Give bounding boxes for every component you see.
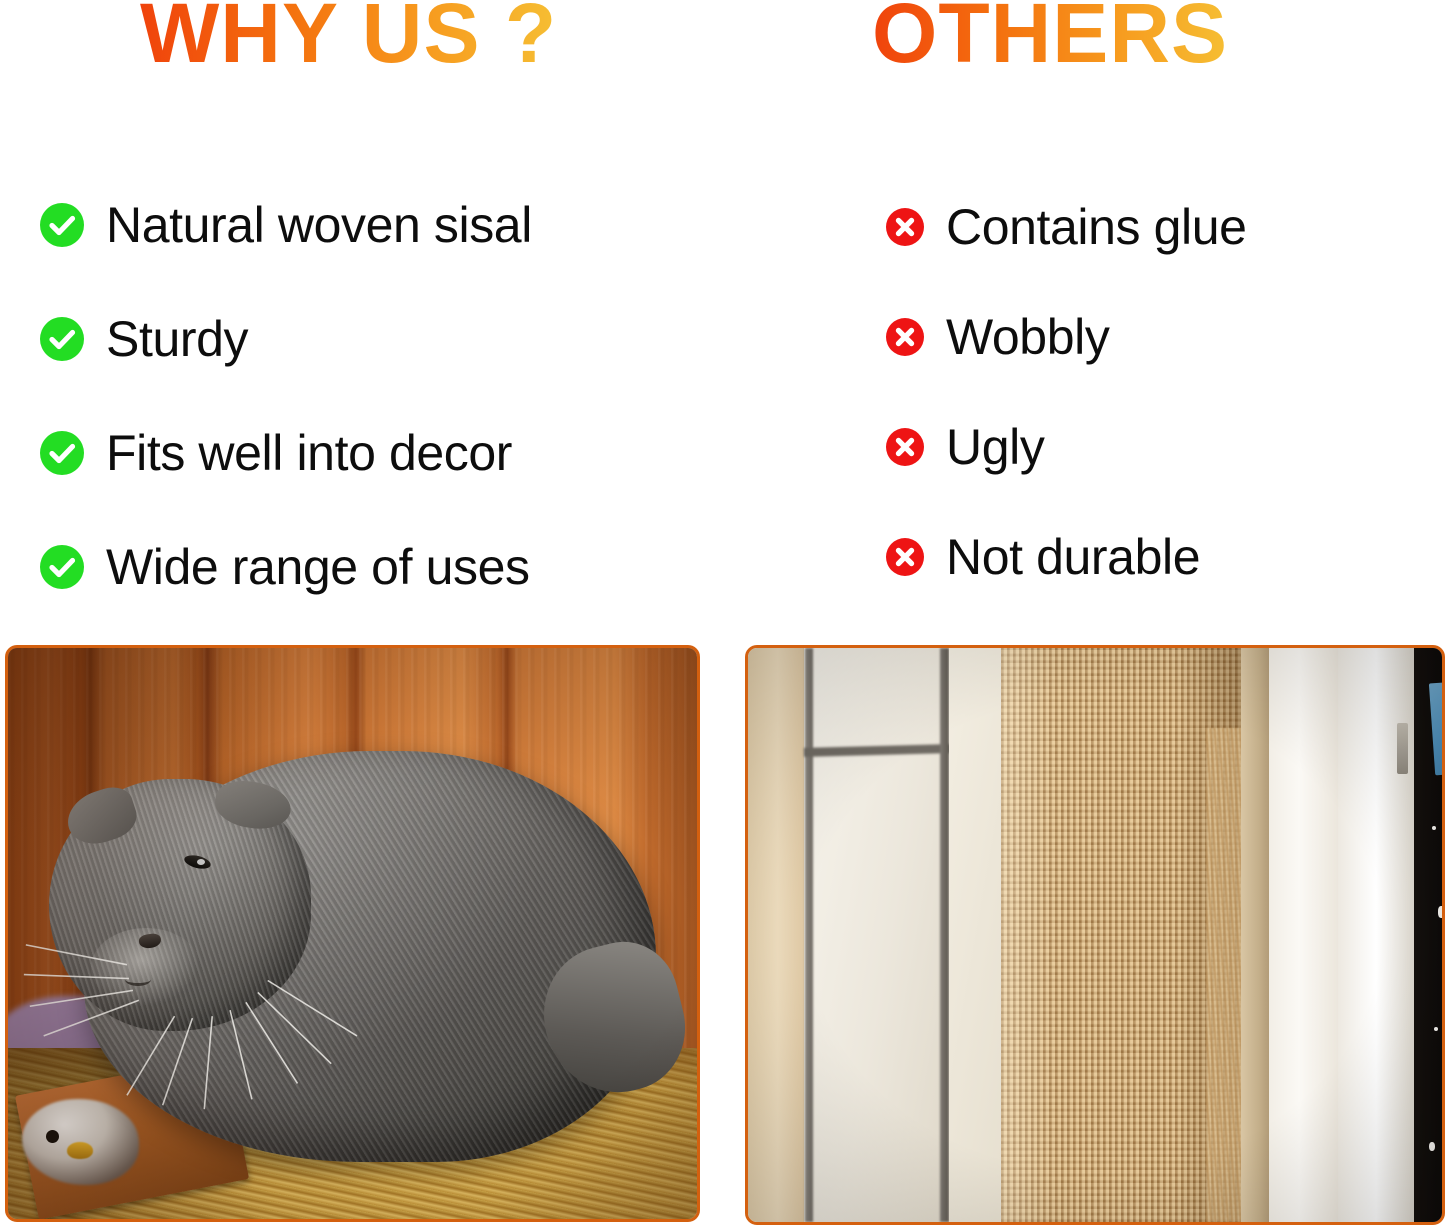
check-circle-icon (40, 431, 84, 475)
list-item: Contains glue (886, 172, 1247, 282)
others-sisal-mat-photo (745, 645, 1445, 1225)
comparison-infographic: WHY US ? OTHERS Natural woven sisal Stur… (0, 0, 1445, 1227)
list-item: Natural woven sisal (40, 168, 532, 282)
pros-list: Natural woven sisal Sturdy Fits well int… (40, 168, 532, 624)
check-circle-icon (40, 203, 84, 247)
others-title: OTHERS (872, 0, 1228, 75)
list-item-label: Natural woven sisal (106, 198, 532, 252)
list-item-label: Ugly (946, 420, 1044, 474)
list-item-label: Wobbly (946, 310, 1109, 364)
cat-whiskers (8, 648, 697, 1219)
list-item: Sturdy (40, 282, 532, 396)
why-us-title: WHY US ? (140, 0, 557, 75)
x-circle-icon (886, 538, 924, 576)
photo-vignette (748, 648, 1442, 1222)
list-item: Fits well into decor (40, 396, 532, 510)
check-circle-icon (40, 317, 84, 361)
x-circle-icon (886, 428, 924, 466)
list-item-label: Fits well into decor (106, 426, 512, 480)
list-item: Wide range of uses (40, 510, 532, 624)
cat-on-sisal-mat-photo (5, 645, 700, 1222)
list-item-label: Wide range of uses (106, 540, 530, 594)
check-circle-icon (40, 545, 84, 589)
list-item-label: Contains glue (946, 200, 1247, 254)
list-item: Ugly (886, 392, 1247, 502)
list-item: Not durable (886, 502, 1247, 612)
x-circle-icon (886, 318, 924, 356)
list-item-label: Not durable (946, 530, 1200, 584)
x-circle-icon (886, 208, 924, 246)
list-item-label: Sturdy (106, 312, 248, 366)
cons-list: Contains glue Wobbly Ugly (886, 172, 1247, 612)
list-item: Wobbly (886, 282, 1247, 392)
